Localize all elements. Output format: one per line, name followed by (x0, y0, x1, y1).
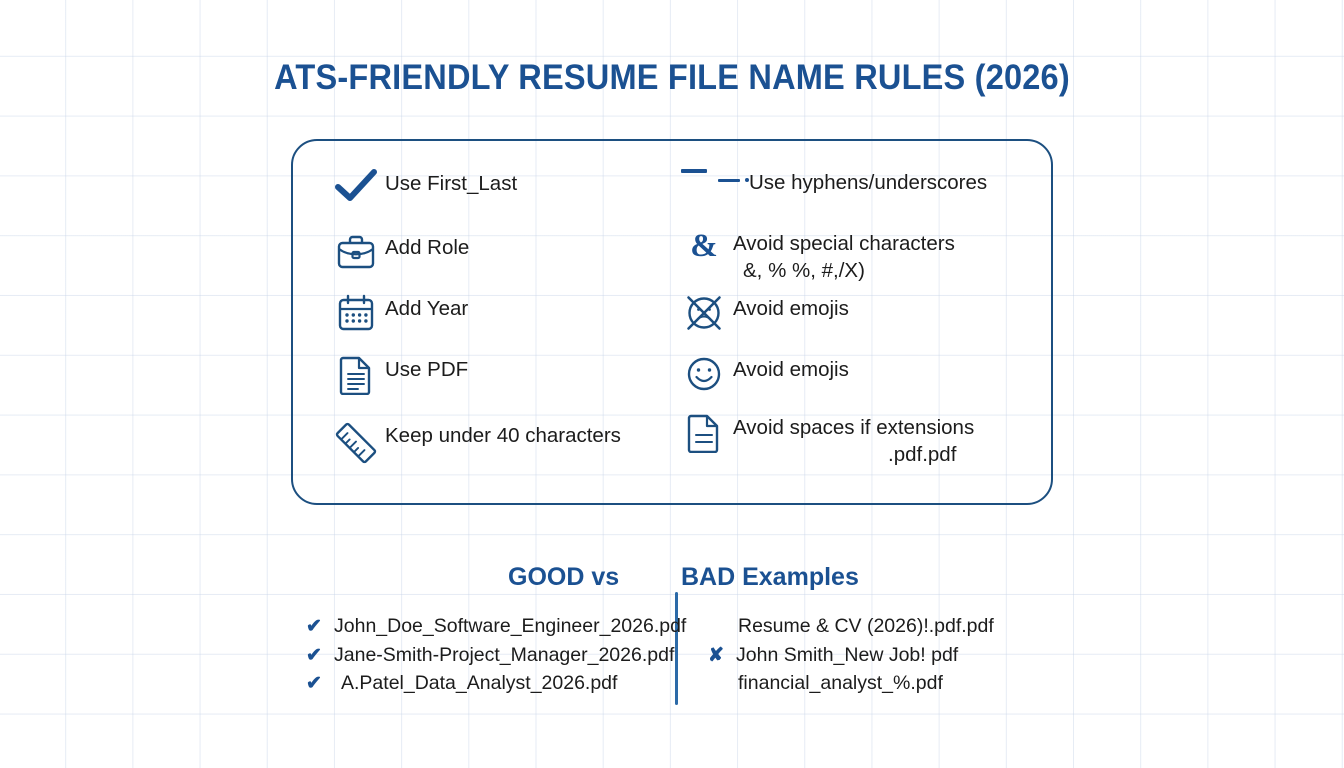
smiley-icon (675, 355, 733, 393)
example-filename: John_Doe_Software_Engineer_2026.pdf (334, 612, 686, 641)
example-filename: Jane-Smith-Project_Manager_2026.pdf (334, 641, 674, 670)
list-item: ✔ John_Doe_Software_Engineer_2026.pdf (306, 612, 686, 641)
rule-label: Add Role (385, 233, 469, 261)
infographic-canvas: ATS-FRIENDLY RESUME FILE NAME RULES (202… (0, 0, 1344, 768)
bad-examples-heading: BAD Examples (681, 563, 859, 592)
rule-label: Use First_Last (385, 169, 517, 197)
crossed-circle-icon (675, 294, 733, 332)
good-examples-list: ✔ John_Doe_Software_Engineer_2026.pdf ✔ … (306, 612, 686, 698)
rule-sublabel: .pdf.pdf (733, 441, 974, 468)
list-item: Resume & CV (2026)!.pdf.pdf (708, 612, 994, 641)
rule-item-use-pdf: Use PDF (327, 355, 468, 395)
page-title: ATS-FRIENDLY RESUME FILE NAME RULES (202… (47, 58, 1297, 98)
example-filename: John Smith_New Job! pdf (736, 641, 958, 670)
rule-label: Avoid emojis (733, 355, 849, 383)
rule-label: Add Year (385, 294, 468, 322)
rule-label: Avoid emojis (733, 294, 849, 322)
list-item: ✘ John Smith_New Job! pdf (708, 641, 994, 670)
example-filename: A.Patel_Data_Analyst_2026.pdf (334, 669, 617, 698)
rule-label: Use PDF (385, 355, 468, 383)
rule-label: Avoid special characters (733, 232, 955, 255)
ampersand-icon: & (675, 229, 733, 262)
cross-mark-icon: ✘ (708, 642, 736, 671)
rule-item-keep-under-40: Keep under 40 characters (327, 421, 621, 465)
briefcase-icon (327, 233, 385, 270)
check-mark-icon: ✔ (306, 642, 334, 671)
check-icon (327, 169, 385, 203)
bad-examples-list: Resume & CV (2026)!.pdf.pdf ✘ John Smith… (708, 612, 994, 698)
rule-item-avoid-emojis-crossed: Avoid emojis (675, 294, 849, 332)
list-item: financial_analyst_%.pdf (708, 669, 994, 698)
good-examples-heading: GOOD vs (508, 563, 619, 592)
rule-item-add-year: Add Year (327, 294, 468, 332)
rule-label: Keep under 40 characters (385, 421, 621, 449)
rule-label: Use hyphens/underscores (749, 169, 987, 196)
rule-item-avoid-emojis-smiley: Avoid emojis (675, 355, 849, 393)
rule-item-add-role: Add Role (327, 233, 469, 270)
ruler-icon (327, 421, 385, 465)
document-icon (327, 355, 385, 395)
example-filename: Resume & CV (2026)!.pdf.pdf (736, 612, 994, 641)
rule-item-use-first-last: Use First_Last (327, 169, 517, 203)
list-item: ✔ Jane-Smith-Project_Manager_2026.pdf (306, 641, 686, 670)
check-mark-icon: ✔ (306, 613, 334, 642)
rule-item-use-hyphens-underscores: Use hyphens/underscores (675, 169, 987, 196)
rules-card: Use First_Last Add Role (291, 139, 1053, 505)
rule-label: Avoid spaces if extensions (733, 416, 974, 439)
rule-sublabel: &, % %, #,/X) (733, 257, 955, 284)
list-item: ✔ A.Patel_Data_Analyst_2026.pdf (306, 669, 686, 698)
hyphen-underscore-icon (675, 169, 753, 176)
rule-item-avoid-spaces-extensions: Avoid spaces if extensions .pdf.pdf (675, 413, 974, 468)
example-filename: financial_analyst_%.pdf (736, 669, 943, 698)
document-icon (675, 413, 733, 453)
check-mark-icon: ✔ (306, 670, 334, 699)
calendar-icon (327, 294, 385, 332)
rule-item-avoid-special-characters: & Avoid special characters &, % %, #,/X) (675, 229, 955, 284)
